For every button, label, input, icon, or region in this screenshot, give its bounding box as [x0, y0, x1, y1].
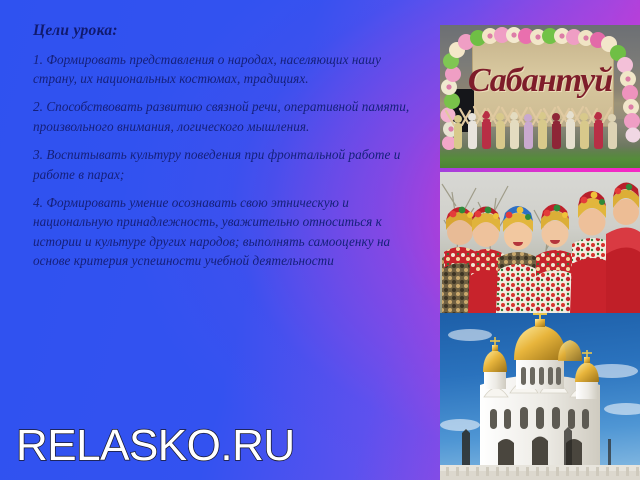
lesson-goals-panel: Цели урока: 1. Формировать представления… [0, 0, 437, 480]
goal-item-3: 3. Воспитывать культуру поведения при фр… [33, 145, 423, 184]
presentation-slide: Цели урока: 1. Формировать представления… [0, 0, 640, 480]
women-in-folk-costume-icon [440, 172, 640, 313]
dancers-group-icon [440, 25, 640, 168]
folk-costume-women-photo [440, 172, 640, 313]
sabantuy-festival-photo: Сабантуй [440, 25, 640, 168]
goal-item-4: 4. Формировать умение осознавать свою эт… [33, 193, 423, 271]
page-title: Цели урока: [33, 22, 423, 41]
cathedral-photo [440, 313, 640, 480]
goal-item-1: 1. Формировать представления о народах, … [33, 50, 423, 89]
watermark-text: RELASKO.RU [16, 424, 295, 468]
cathedral-of-christ-the-saviour-icon [440, 313, 640, 480]
goal-item-2: 2. Способствовать развитию связной речи,… [33, 97, 423, 136]
photo-strip: Сабантуй [440, 0, 640, 480]
